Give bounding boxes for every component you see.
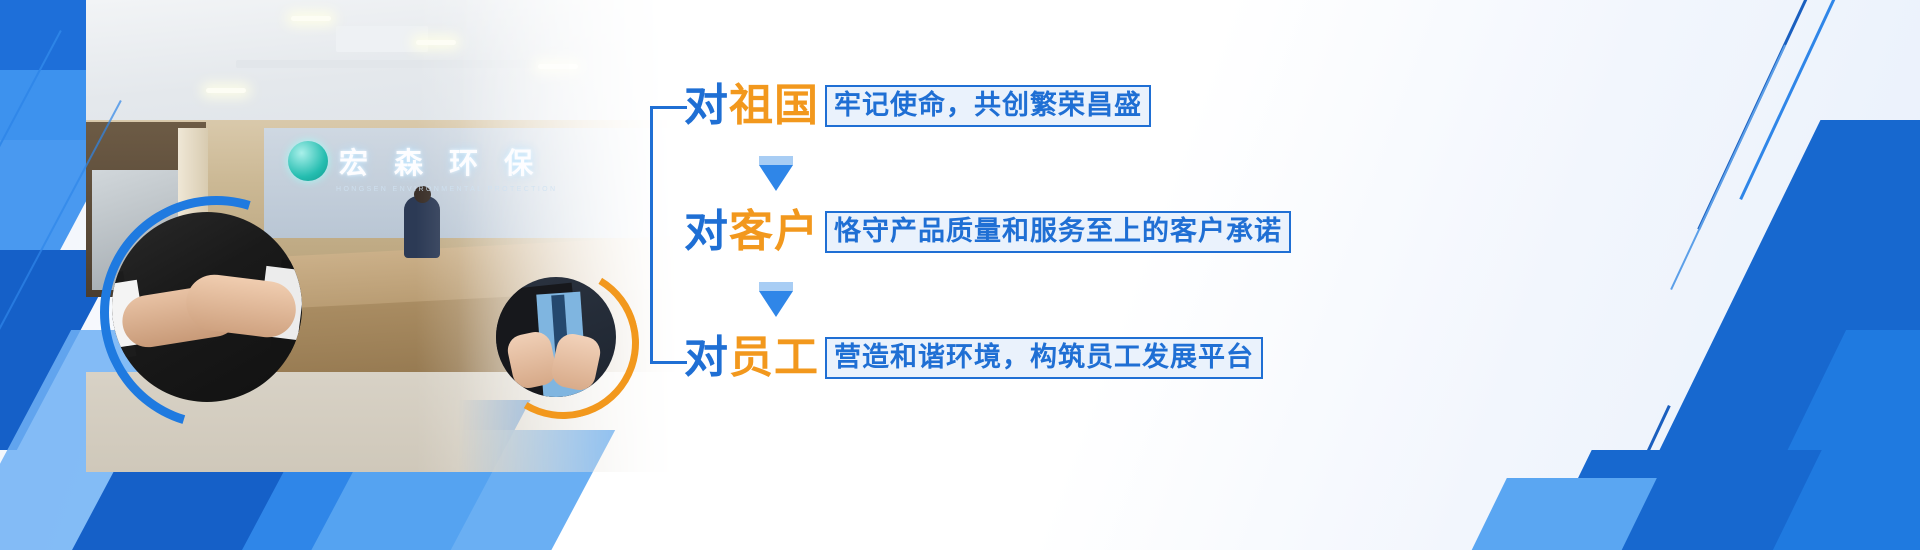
pledge-customer: 对 客户 恪守产品质量和服务至上的客户承诺 (684, 210, 1291, 254)
company-logo-text: 宏 森 环 保 (339, 140, 542, 182)
pledge-nation-keyword: 祖国 (729, 84, 819, 128)
handshake-circle-photo (112, 212, 302, 402)
bracket-connector (650, 106, 687, 364)
photo-ceiling-light (206, 88, 246, 93)
triangle-down-icon (759, 165, 793, 191)
pledge-employee-prefix: 对 (684, 336, 729, 380)
triangle-down-icon (759, 291, 793, 317)
triangle-down-icon-cap (759, 282, 793, 291)
company-logo: 宏 森 环 保 (288, 140, 542, 182)
pledge-employee-description: 营造和谐环境，构筑员工发展平台 (825, 337, 1263, 379)
globe-icon (288, 141, 328, 181)
pledge-nation-prefix: 对 (684, 84, 729, 128)
pledge-customer-description: 恪守产品质量和服务至上的客户承诺 (825, 211, 1291, 253)
applause-circle-photo (496, 277, 616, 397)
pledge-nation: 对 祖国 牢记使命，共创繁荣昌盛 (684, 84, 1151, 128)
company-values-banner: 宏 森 环 保 HONGSEN ENVIRONMENTAL PROTECTION… (0, 0, 1920, 550)
pledge-customer-prefix: 对 (684, 210, 729, 254)
photo-ceiling-light (538, 64, 578, 69)
company-logo-subtitle: HONGSEN ENVIRONMENTAL PROTECTION (336, 186, 557, 193)
pledge-employee-keyword: 员工 (729, 336, 819, 380)
photo-ceiling-light (291, 16, 331, 21)
pledge-employee: 对 员工 营造和谐环境，构筑员工发展平台 (684, 336, 1263, 380)
photo-ceiling-panel (336, 26, 428, 52)
photo-receptionist-body (404, 196, 440, 258)
pledge-nation-description: 牢记使命，共创繁荣昌盛 (825, 85, 1151, 127)
values-list: 对 祖国 牢记使命，共创繁荣昌盛 对 客户 恪守产品质量和服务至上的客户承诺 对… (650, 84, 1350, 384)
photo-ceiling-seam (236, 60, 536, 68)
photo-ceiling (86, 0, 686, 132)
decor-shape-bottom-right-2 (1453, 478, 1657, 550)
photo-ceiling-light (416, 40, 456, 45)
triangle-down-icon-cap (759, 156, 793, 165)
pledge-customer-keyword: 客户 (729, 210, 819, 254)
